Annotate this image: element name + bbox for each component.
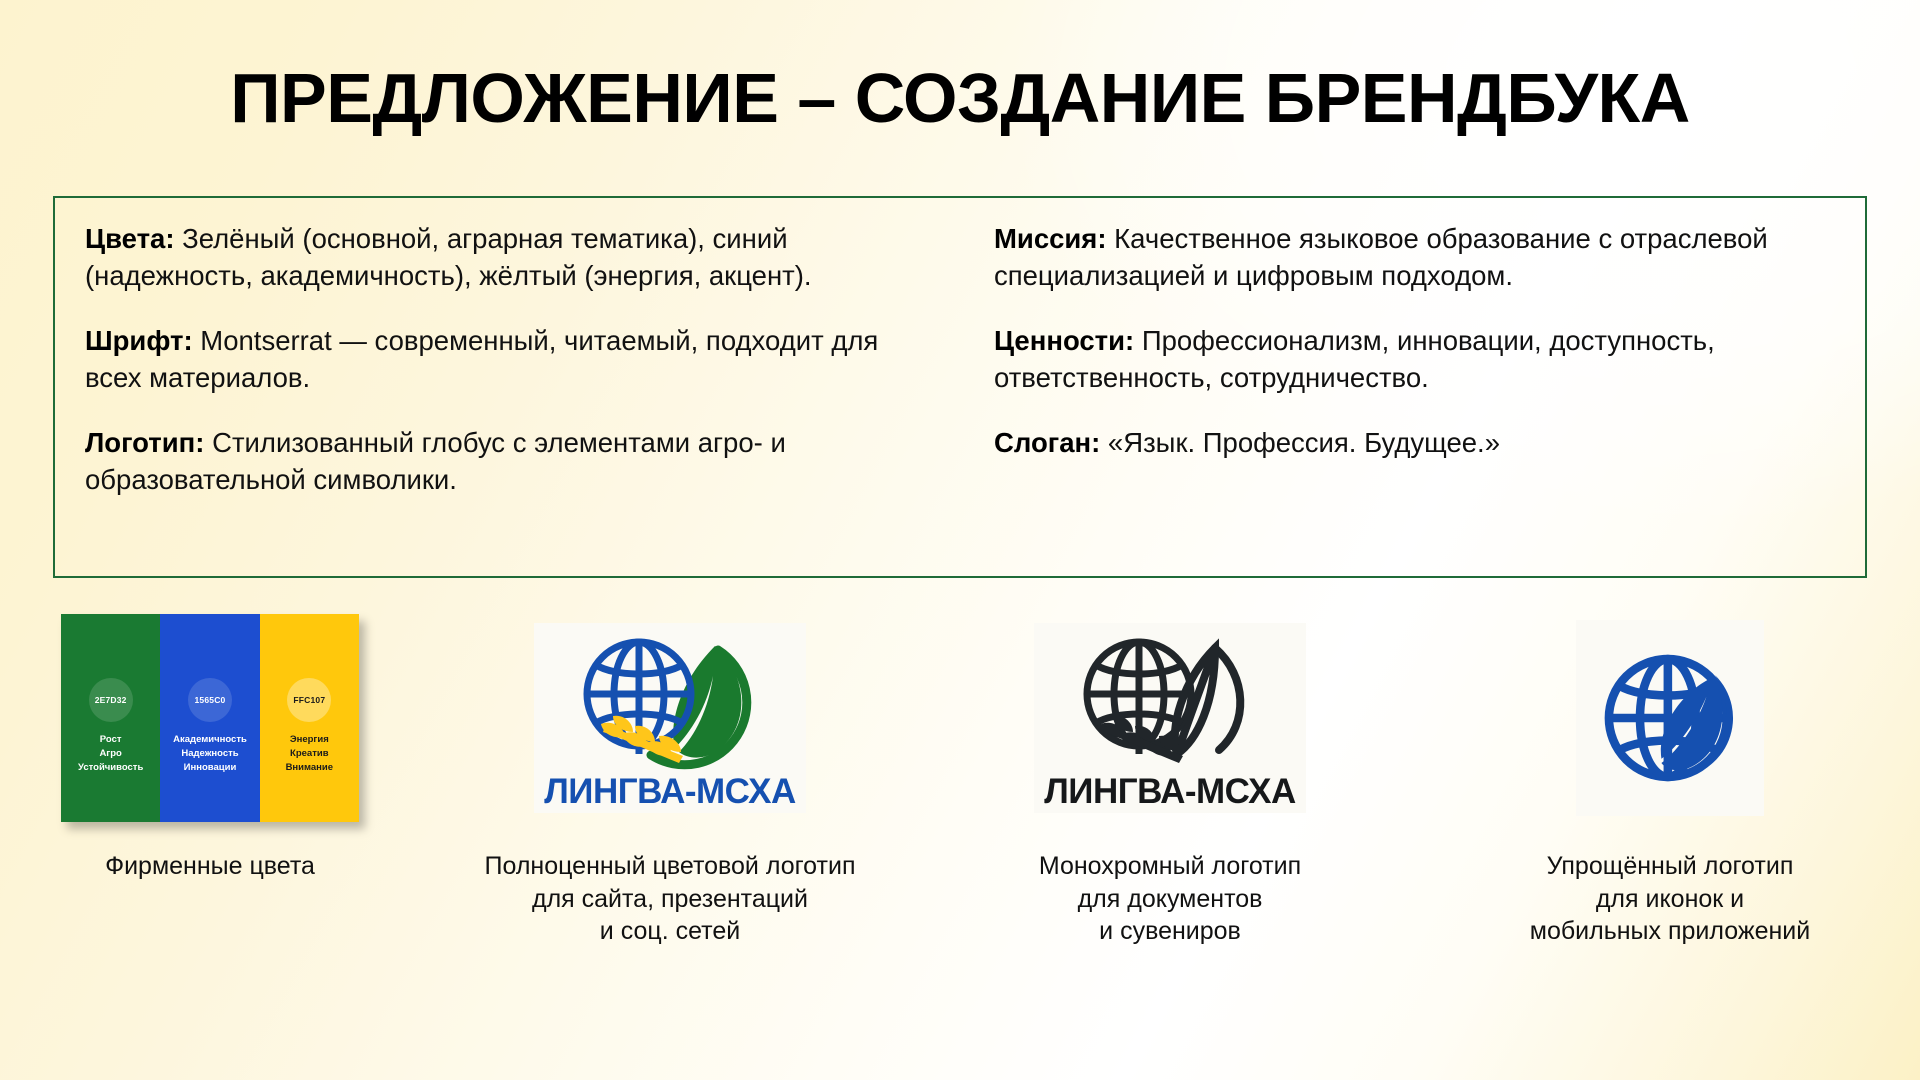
brandbook-item-mission-text: Качественное языковое образование с отра…: [994, 223, 1768, 291]
logo-simple-icon: [1595, 643, 1745, 793]
brandbook-item-font-label: Шрифт:: [85, 325, 193, 356]
gallery-item-logo-mono: ЛИНГВА-МСХА Монохромный логотип для доку…: [920, 608, 1420, 948]
color-swatch-blue-words: Академичность Надежность Инновации: [173, 733, 247, 775]
color-swatch-yellow: FFC107 Энергия Креатив Внимание: [260, 614, 359, 822]
logo-mono-figure: ЛИНГВА-МСХА: [1034, 608, 1306, 828]
logo-mono-wordmark: ЛИНГВА-МСХА: [1044, 774, 1296, 809]
brandbook-item-colors: Цвета: Зелёный (основной, аграрная темат…: [85, 220, 932, 295]
logo-full-icon: [565, 632, 775, 772]
gallery-item-logo-simple: Упрощённый логотип для иконок и мобильны…: [1420, 608, 1920, 948]
asset-gallery: 2E7D32 Рост Агро Устойчивость 1565C0 Ака…: [0, 608, 1920, 948]
brandbook-item-font-text: Montserrat — современный, читаемый, подх…: [85, 325, 878, 393]
logo-full-figure: ЛИНГВА-МСХА: [534, 608, 806, 828]
logo-simple-figure: [1576, 608, 1764, 828]
gallery-item-palette: 2E7D32 Рост Агро Устойчивость 1565C0 Ака…: [0, 608, 420, 948]
logo-mono-caption: Монохромный логотип для документов и сув…: [1039, 850, 1301, 948]
brandbook-item-slogan: Слоган: «Язык. Профессия. Будущее.»: [994, 424, 1841, 461]
brandbook-item-colors-label: Цвета:: [85, 223, 174, 254]
color-swatch-blue-hex: 1565C0: [188, 678, 232, 722]
brandbook-item-colors-text: Зелёный (основной, аграрная тематика), с…: [85, 223, 812, 291]
logo-simple-caption: Упрощённый логотип для иконок и мобильны…: [1530, 850, 1810, 948]
logo-mono-icon: [1065, 632, 1275, 772]
color-swatch-blue: 1565C0 Академичность Надежность Инноваци…: [160, 614, 259, 822]
brandbook-item-values: Ценности: Профессионализм, инновации, до…: [994, 322, 1841, 397]
palette-caption: Фирменные цвета: [105, 850, 315, 883]
brandbook-item-slogan-label: Слоган:: [994, 427, 1100, 458]
brandbook-left-column: Цвета: Зелёный (основной, аграрная темат…: [55, 198, 962, 576]
color-swatch-green-words: Рост Агро Устойчивость: [78, 733, 143, 775]
brandbook-item-logo-label: Логотип:: [85, 427, 204, 458]
palette-figure: 2E7D32 Рост Агро Устойчивость 1565C0 Ака…: [61, 608, 359, 828]
logo-mono-plate: ЛИНГВА-МСХА: [1034, 623, 1306, 813]
color-swatch-green: 2E7D32 Рост Агро Устойчивость: [61, 614, 160, 822]
gallery-item-logo-full: ЛИНГВА-МСХА Полноценный цветовой логотип…: [420, 608, 920, 948]
logo-simple-plate: [1576, 620, 1764, 816]
brandbook-item-logo: Логотип: Стилизованный глобус с элемента…: [85, 424, 932, 499]
slide: ПРЕДЛОЖЕНИЕ – СОЗДАНИЕ БРЕНДБУКА Цвета: …: [0, 0, 1920, 1080]
brand-colors-card: 2E7D32 Рост Агро Устойчивость 1565C0 Ака…: [61, 614, 359, 822]
logo-full-plate: ЛИНГВА-МСХА: [534, 623, 806, 813]
brandbook-item-values-label: Ценности:: [994, 325, 1134, 356]
brandbook-item-slogan-text: «Язык. Профессия. Будущее.»: [1100, 427, 1500, 458]
brandbook-summary-box: Цвета: Зелёный (основной, аграрная темат…: [53, 196, 1867, 578]
color-swatch-yellow-hex: FFC107: [287, 678, 331, 722]
brandbook-item-mission-label: Миссия:: [994, 223, 1107, 254]
color-swatch-yellow-words: Энергия Креатив Внимание: [286, 733, 334, 775]
brandbook-right-column: Миссия: Качественное языковое образовани…: [962, 198, 1865, 576]
brandbook-item-mission: Миссия: Качественное языковое образовани…: [994, 220, 1841, 295]
brandbook-item-font: Шрифт: Montserrat — современный, читаемы…: [85, 322, 932, 397]
color-swatch-green-hex: 2E7D32: [89, 678, 133, 722]
logo-full-caption: Полноценный цветовой логотип для сайта, …: [485, 850, 856, 948]
page-title: ПРЕДЛОЖЕНИЕ – СОЗДАНИЕ БРЕНДБУКА: [0, 58, 1920, 138]
logo-full-wordmark: ЛИНГВА-МСХА: [544, 774, 796, 809]
